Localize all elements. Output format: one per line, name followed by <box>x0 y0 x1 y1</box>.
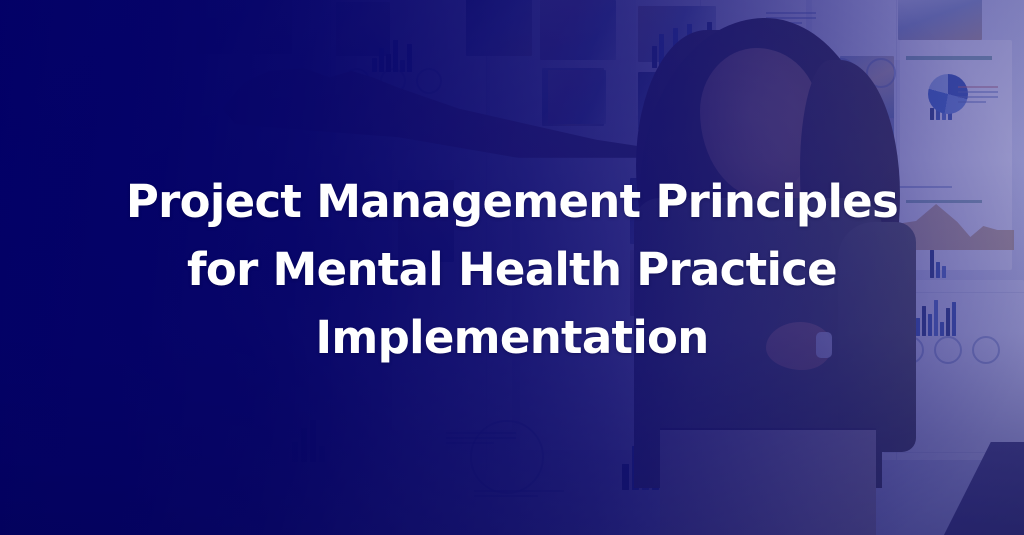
title-line-3: Implementation <box>80 304 944 372</box>
title-line-1: Project Management Principles <box>80 168 944 236</box>
page-title: Project Management Principles for Mental… <box>0 168 1024 372</box>
hero-banner: Project Management Principles for Mental… <box>0 0 1024 535</box>
title-line-2: for Mental Health Practice <box>80 236 944 304</box>
